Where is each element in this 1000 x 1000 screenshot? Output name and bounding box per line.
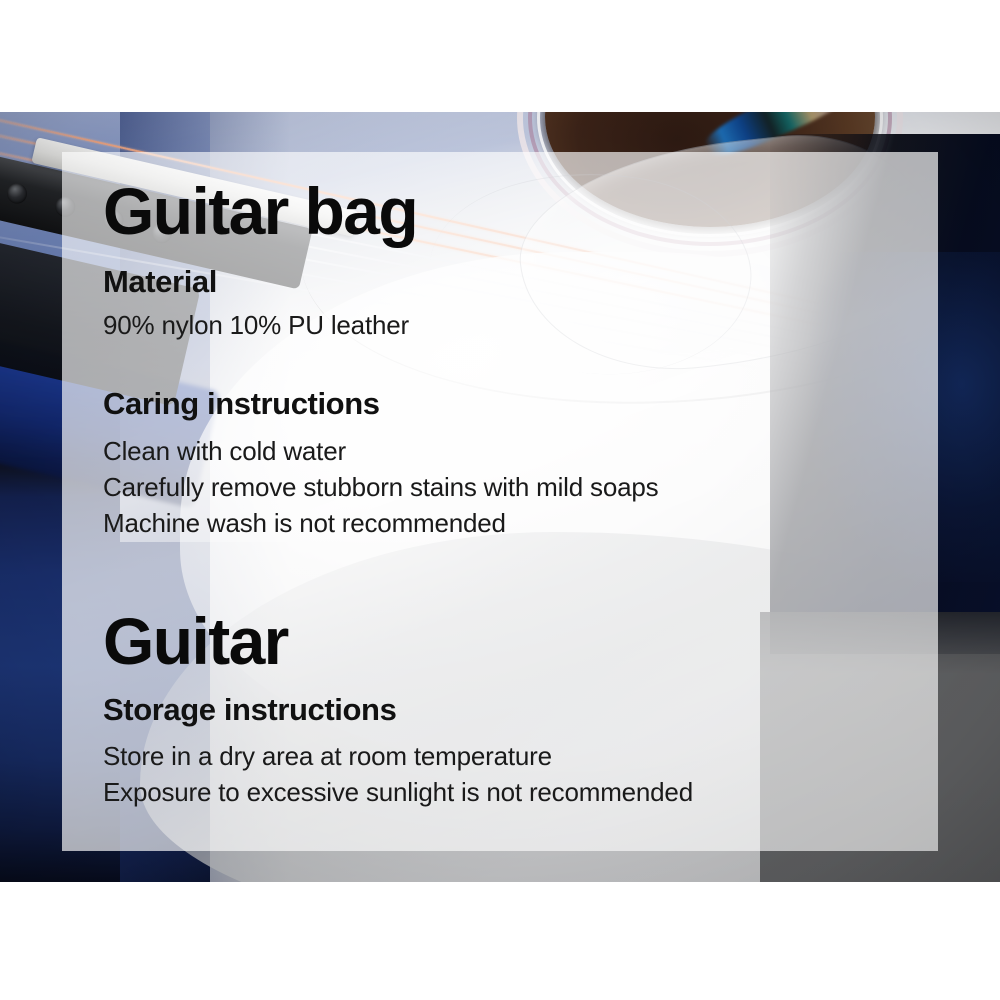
heading-storage-instructions: Storage instructions bbox=[103, 694, 898, 727]
caring-line-3: Machine wash is not recommended bbox=[103, 506, 898, 542]
heading-material: Material bbox=[103, 266, 898, 299]
heading-caring-instructions: Caring instructions bbox=[103, 388, 898, 421]
section-title-guitar: Guitar bbox=[103, 608, 898, 674]
section-title-guitar-bag: Guitar bag bbox=[103, 178, 898, 244]
info-panel-overlay: Guitar bag Material 90% nylon 10% PU lea… bbox=[62, 152, 938, 851]
caring-line-1: Clean with cold water bbox=[103, 434, 898, 470]
caring-line-2: Carefully remove stubborn stains with mi… bbox=[103, 470, 898, 506]
caring-instruction-lines: Clean with cold water Carefully remove s… bbox=[103, 434, 898, 542]
storage-line-2: Exposure to excessive sunlight is not re… bbox=[103, 775, 898, 811]
bridge-pin-1 bbox=[5, 182, 29, 206]
material-line-1: 90% nylon 10% PU leather bbox=[103, 308, 898, 344]
storage-instruction-lines: Store in a dry area at room temperature … bbox=[103, 739, 898, 811]
storage-line-1: Store in a dry area at room temperature bbox=[103, 739, 898, 775]
material-lines: 90% nylon 10% PU leather bbox=[103, 308, 898, 344]
product-info-card: Guitar bag Material 90% nylon 10% PU lea… bbox=[0, 0, 1000, 1000]
